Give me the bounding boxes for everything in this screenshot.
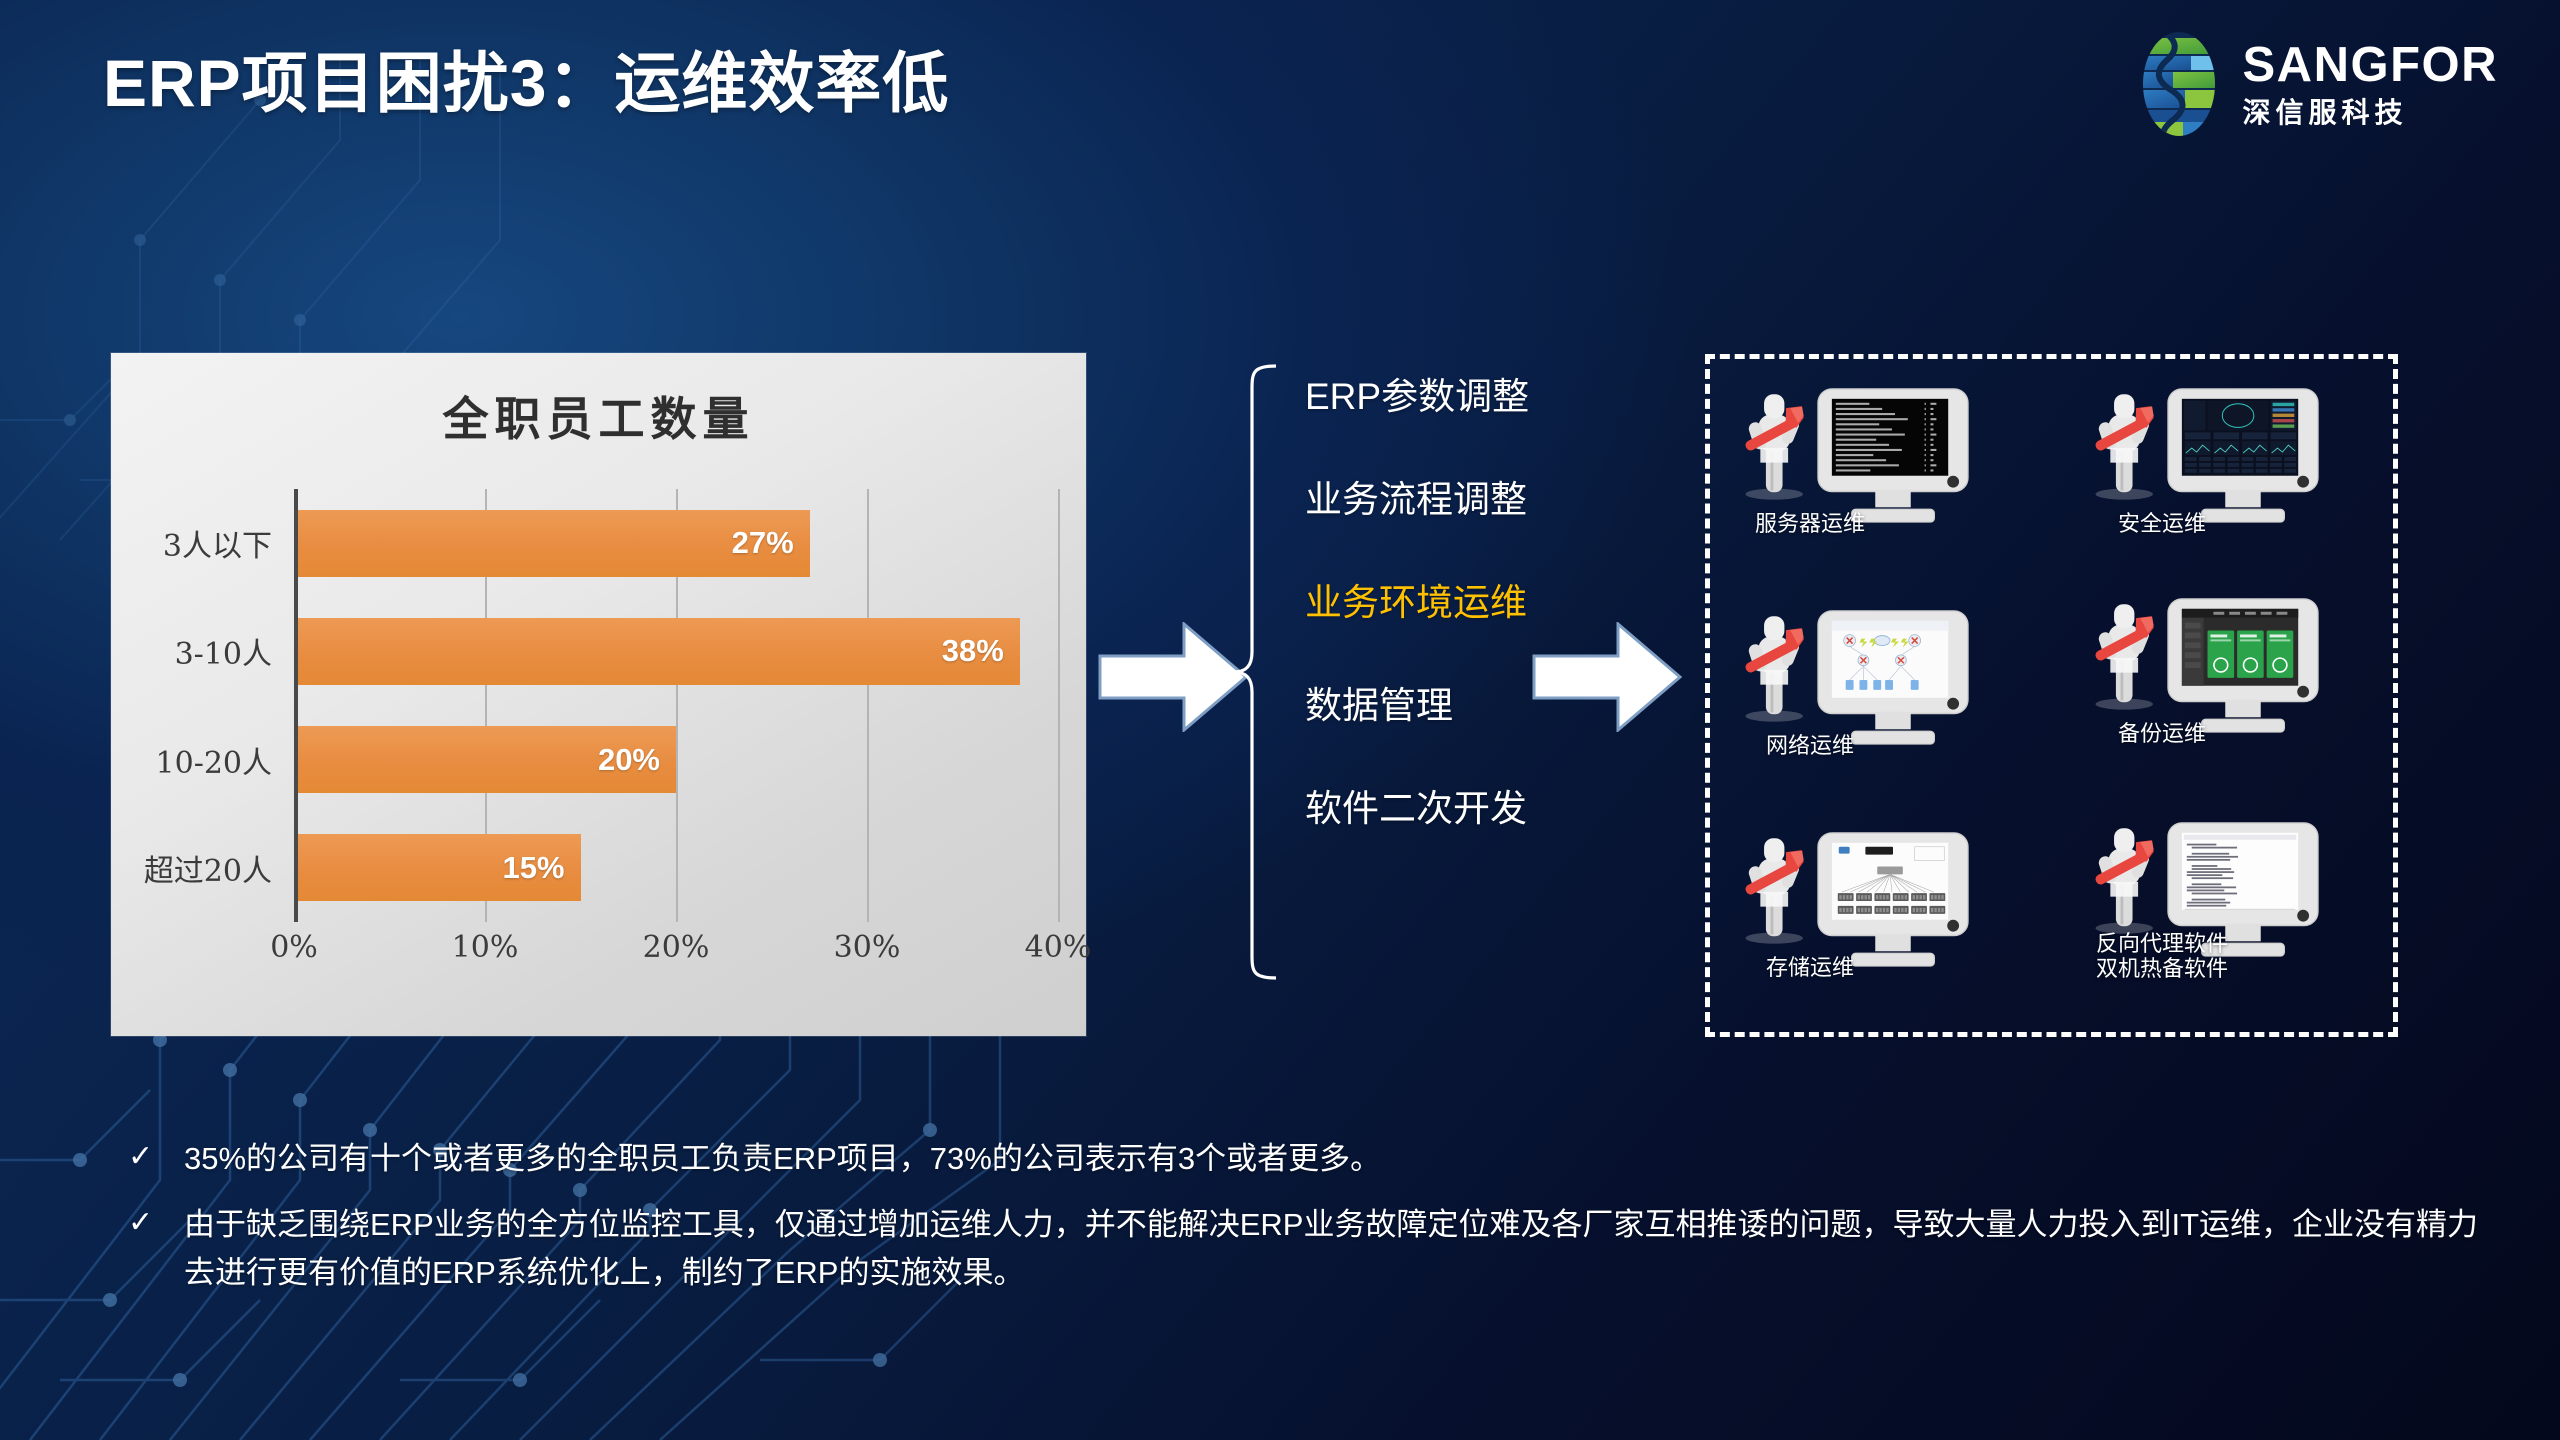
chart-title: 全职员工数量 <box>111 383 1086 449</box>
ops-category-item-2[interactable]: 业务环境运维 <box>1305 584 1605 621</box>
ops-task-cell-2[interactable] <box>1740 609 1972 749</box>
bullet-text: 由于缺乏围绕ERP业务的全方位监控工具，仅通过增加运维人力，并不能解决ERP业务… <box>184 1201 2500 1297</box>
bar-category-label: 10-20人 <box>156 738 272 782</box>
chart-bar-row: 3-10人38% <box>294 618 1058 685</box>
bar-category-label: 3-10人 <box>175 629 272 673</box>
ops-task-cell-4[interactable] <box>1740 831 1972 971</box>
ops-task-label-2: 网络运维 <box>1730 733 1890 758</box>
ops-task-cell-1[interactable] <box>2090 387 2322 527</box>
technician-with-wrench-icon <box>2090 821 2164 939</box>
ops-category-item-0[interactable]: ERP参数调整 <box>1305 378 1605 415</box>
x-tick-label: 10% <box>452 930 519 965</box>
ops-task-label-line: 网络运维 <box>1730 733 1890 758</box>
security-dashboard-screen <box>2182 399 2298 476</box>
employee-count-chart: 全职员工数量 3人以下27%3-10人38%10-20人20%超过20人15% … <box>111 353 1086 1036</box>
ops-task-label-5: 反向代理软件双机热备软件 <box>2082 931 2242 982</box>
desktop-monitor-icon <box>1814 831 1972 971</box>
chart-bar-row: 超过20人15% <box>294 834 1058 901</box>
x-tick-label: 0% <box>270 930 318 965</box>
left-flow-arrow-icon <box>1098 622 1248 732</box>
technician-with-wrench-icon <box>1740 609 1814 727</box>
ops-task-label-line: 备份运维 <box>2082 721 2242 746</box>
bar-category-label: 3人以下 <box>163 521 272 565</box>
x-tick-label: 20% <box>643 930 710 965</box>
backup-console-screen <box>2182 609 2298 686</box>
technician-with-wrench-icon <box>1740 387 1814 505</box>
ops-tasks-panel: 服务器运维安全运维网络运维备份运维存储运维反向代理软件双机热备软件 <box>1705 354 2398 1037</box>
bar-value-label: 38% <box>942 633 1020 669</box>
ops-task-cell-3[interactable] <box>2090 597 2322 737</box>
bar-value-label: 27% <box>732 525 810 561</box>
ops-task-label-0: 服务器运维 <box>1730 511 1890 536</box>
chart-plot-area: 3人以下27%3-10人38%10-20人20%超过20人15% 0%10%20… <box>111 489 1086 969</box>
network-topology-screen <box>1832 621 1948 698</box>
ops-task-label-3: 备份运维 <box>2082 721 2242 746</box>
slide-canvas: ERP项目困扰3：运维效率低 <box>0 0 2560 1440</box>
ops-task-label-4: 存储运维 <box>1730 955 1890 980</box>
ops-task-label-line: 存储运维 <box>1730 955 1890 980</box>
ops-task-label-line: 双机热备软件 <box>2082 956 2242 981</box>
ops-task-label-line: 安全运维 <box>2082 511 2242 536</box>
chart-axes: 3人以下27%3-10人38%10-20人20%超过20人15% 0%10%20… <box>294 489 1058 922</box>
chart-bar: 15% <box>294 834 581 901</box>
ops-task-cell-0[interactable] <box>1740 387 1972 527</box>
bar-value-label: 20% <box>598 742 676 778</box>
bar-category-label: 超过20人 <box>144 846 272 890</box>
storage-topology-screen <box>1832 843 1948 920</box>
desktop-monitor-icon <box>1814 609 1972 749</box>
logo-text-en: SANGFOR <box>2243 41 2499 90</box>
ops-task-label-1: 安全运维 <box>2082 511 2242 536</box>
technician-with-wrench-icon <box>2090 597 2164 715</box>
globe-logo-icon <box>2131 28 2227 140</box>
technician-with-wrench-icon <box>2090 387 2164 505</box>
config-file-screen <box>2182 833 2298 910</box>
check-icon: ✓ <box>128 1201 184 1245</box>
chart-bar-row: 10-20人20% <box>294 726 1058 793</box>
bullet-list: ✓35%的公司有十个或者更多的全职员工负责ERP项目，73%的公司表示有3个或者… <box>128 1135 2500 1315</box>
chart-bar: 27% <box>294 510 810 577</box>
check-icon: ✓ <box>128 1135 184 1179</box>
y-axis-line <box>294 489 298 922</box>
chart-bar-row: 3人以下27% <box>294 510 1058 577</box>
ops-category-item-1[interactable]: 业务流程调整 <box>1305 481 1605 518</box>
chart-bar: 38% <box>294 618 1020 685</box>
ops-category-item-4[interactable]: 软件二次开发 <box>1305 790 1605 827</box>
desktop-monitor-icon <box>2164 597 2322 737</box>
page-title: ERP项目困扰3：运维效率低 <box>103 30 949 126</box>
technician-with-wrench-icon <box>1740 831 1814 949</box>
bullet-item-0: ✓35%的公司有十个或者更多的全职员工负责ERP项目，73%的公司表示有3个或者… <box>128 1135 2500 1183</box>
gridline <box>1058 489 1060 922</box>
chart-bar: 20% <box>294 726 676 793</box>
x-tick-label: 30% <box>834 930 901 965</box>
ops-task-label-line: 服务器运维 <box>1730 511 1890 536</box>
x-tick-label: 40% <box>1025 930 1092 965</box>
desktop-monitor-icon <box>2164 387 2322 527</box>
curly-brace-icon <box>1232 362 1278 982</box>
brand-logo: SANGFOR 深信服科技 <box>2131 28 2499 140</box>
bullet-item-1: ✓由于缺乏围绕ERP业务的全方位监控工具，仅通过增加运维人力，并不能解决ERP业… <box>128 1201 2500 1297</box>
desktop-monitor-icon <box>1814 387 1972 527</box>
bullet-text: 35%的公司有十个或者更多的全职员工负责ERP项目，73%的公司表示有3个或者更… <box>184 1135 1381 1183</box>
right-flow-arrow-icon <box>1532 622 1682 732</box>
terminal-mysql-status-screen <box>1832 399 1948 476</box>
bar-value-label: 15% <box>502 850 580 886</box>
ops-task-label-line: 反向代理软件 <box>2082 931 2242 956</box>
logo-text-cn: 深信服科技 <box>2243 99 2499 127</box>
